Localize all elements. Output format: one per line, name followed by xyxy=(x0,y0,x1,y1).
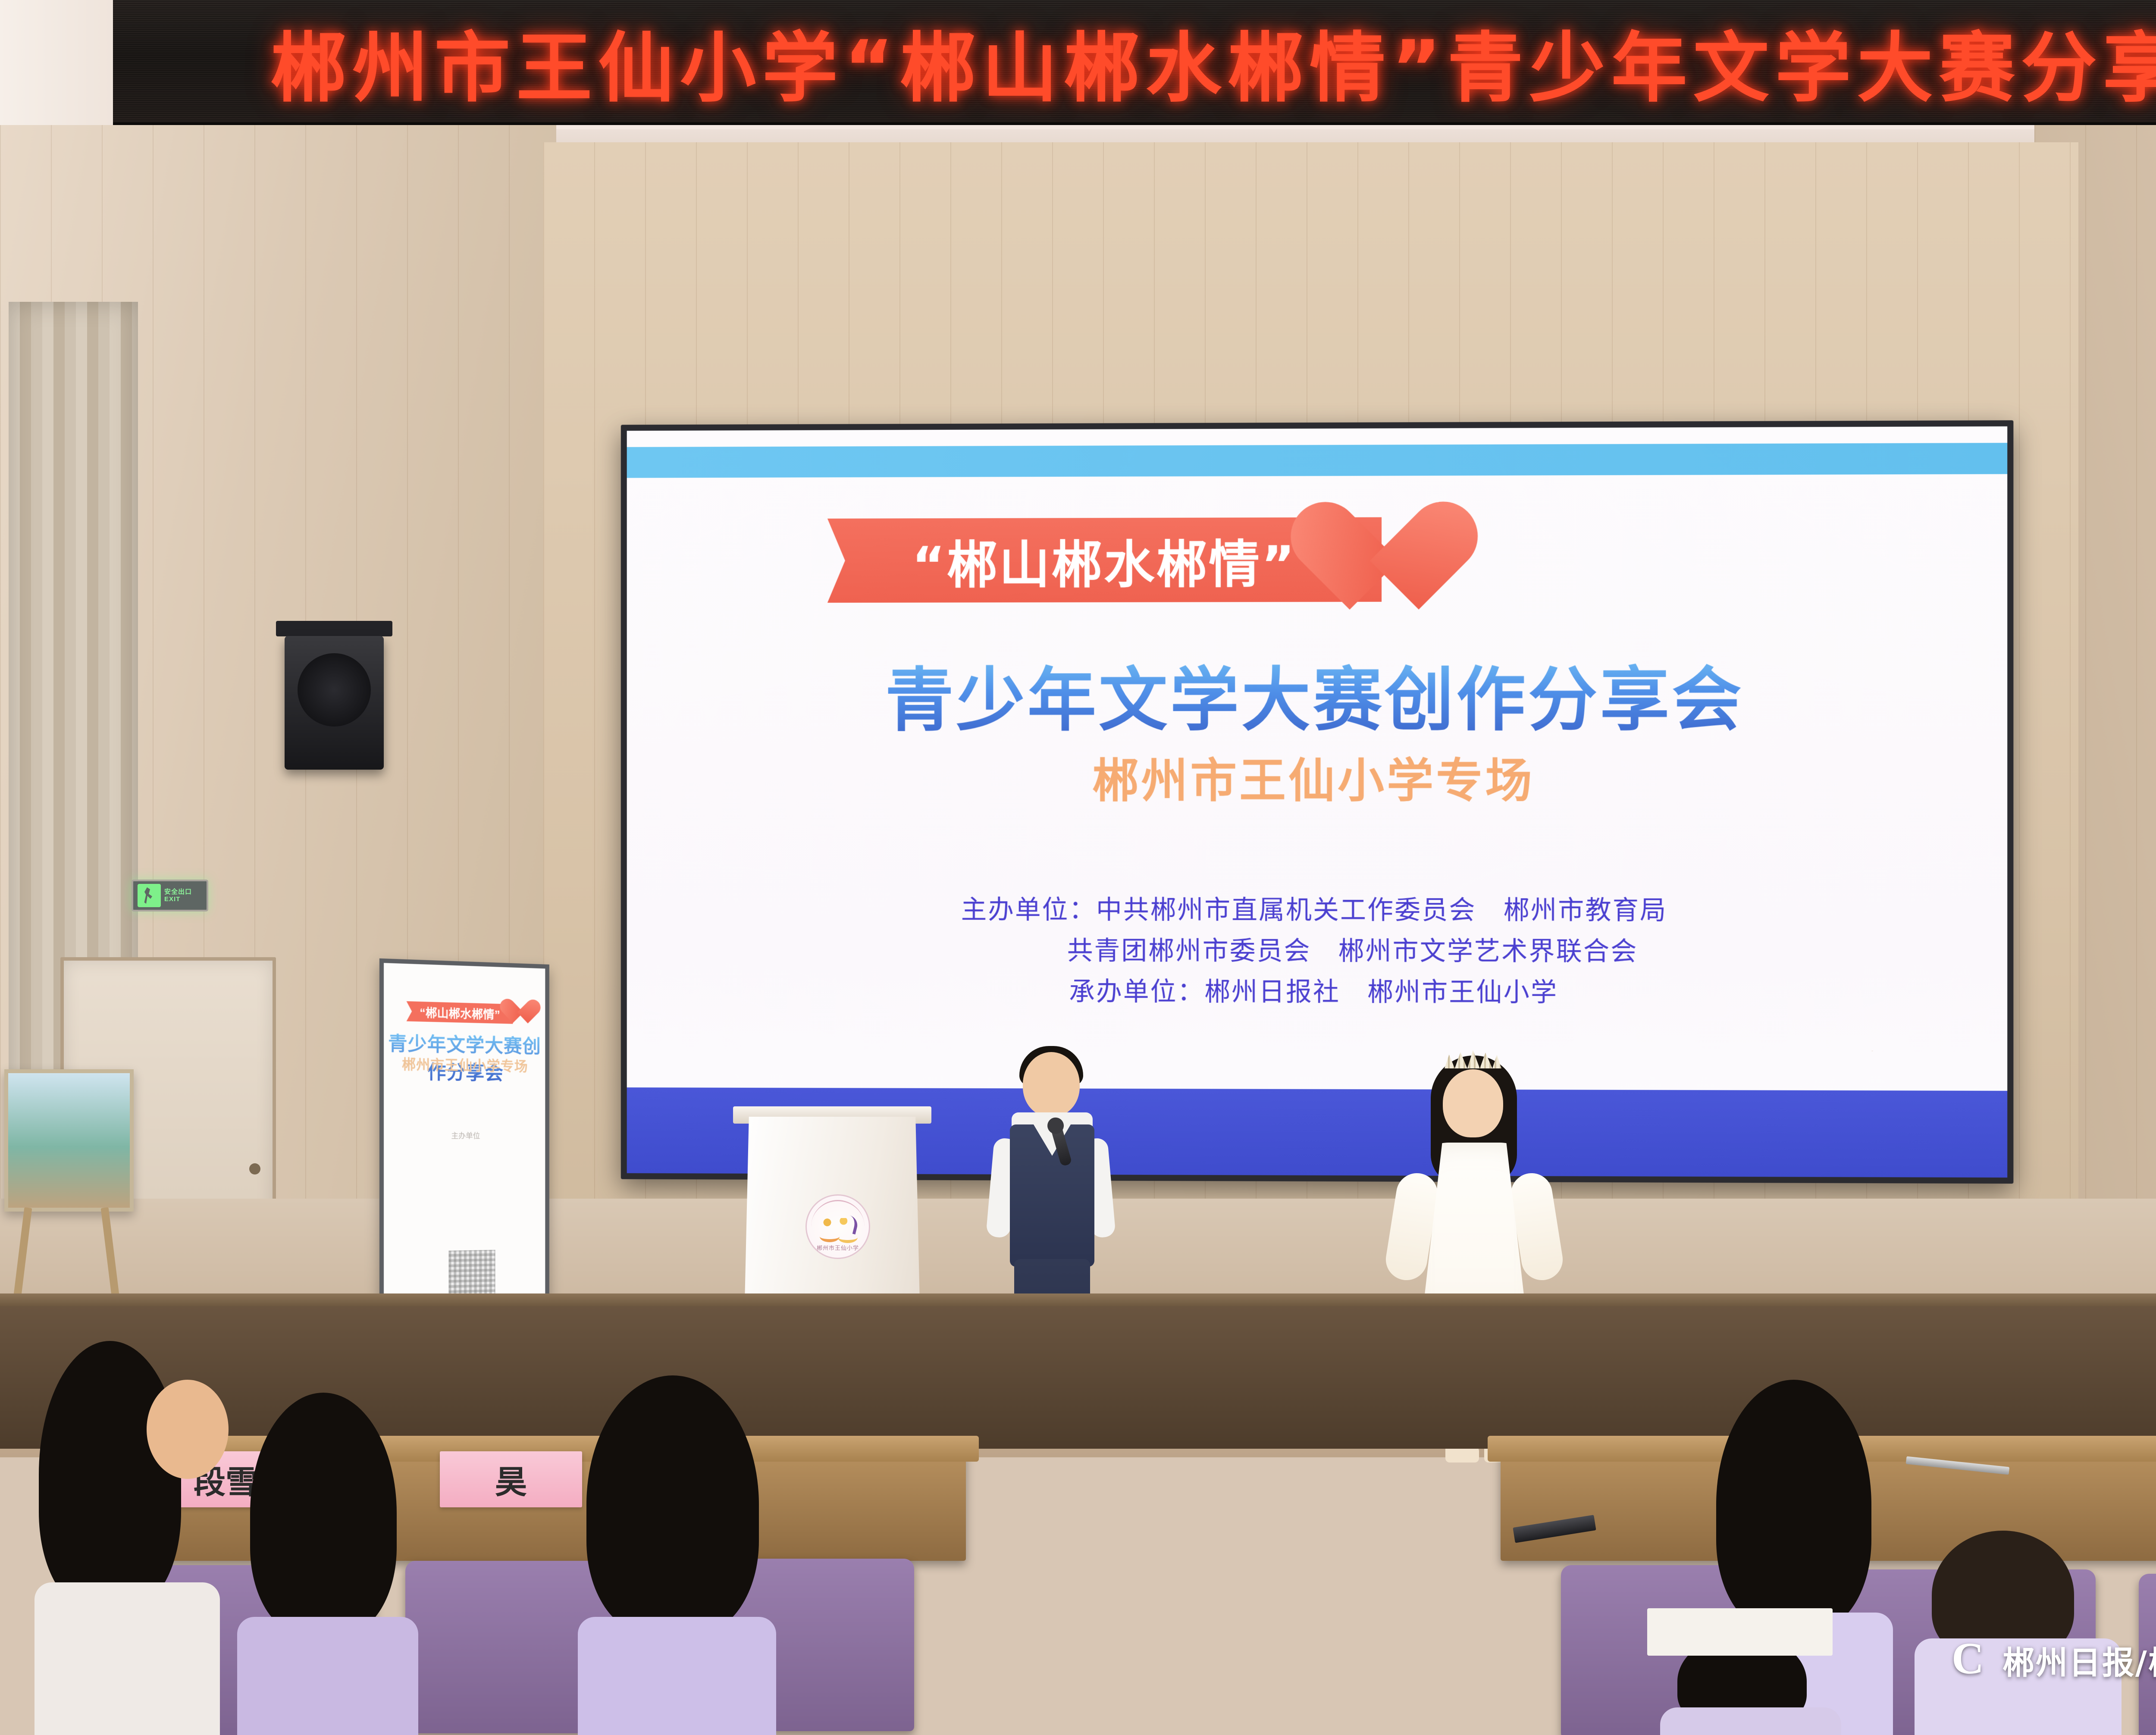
heart-icon xyxy=(506,1000,534,1026)
watermark-text: 郴州日报/郴州发布/今日郴州 xyxy=(2002,1637,2156,1683)
art-easel xyxy=(0,1069,142,1328)
stage-edge xyxy=(0,1293,2156,1306)
speaker-bracket-left xyxy=(276,621,392,636)
hair xyxy=(1716,1380,1871,1630)
slide-top-band xyxy=(627,443,2008,478)
chenzhou-daily-logo-icon xyxy=(1952,1641,1991,1680)
speaker-left xyxy=(285,636,384,770)
school-emblem-icon: 郴州市王仙小学 xyxy=(805,1194,870,1259)
torso xyxy=(34,1582,220,1735)
exit-sign-text: 安全出口 EXIT xyxy=(164,888,192,903)
torso xyxy=(578,1617,776,1735)
running-person-icon xyxy=(138,884,161,907)
banner-left-wall xyxy=(0,0,113,129)
emblem-label: 郴州市王仙小学 xyxy=(807,1243,869,1252)
paper-sheet xyxy=(1647,1608,1833,1656)
organizer-line-1: 主办单位：中共郴州市直属机关工作委员会 郴州市教育局 xyxy=(627,889,2008,932)
poster-body-text: 主办单位 xyxy=(384,1129,545,1143)
led-banner-text: 郴州市王仙小学“郴山郴水郴情”青少年文学大赛分享会 xyxy=(270,6,2156,116)
slide: “郴山郴水郴情” 青少年文学大赛创作分享会 郴州市王仙小学专场 主办单位：中共郴… xyxy=(627,426,2008,1178)
name-placard: 昊 xyxy=(440,1451,582,1507)
watermark: 郴州日报/郴州发布/今日郴州 xyxy=(1952,1637,2156,1683)
torso xyxy=(237,1617,418,1735)
torso xyxy=(1660,1707,1841,1735)
slide-ribbon-text: “郴山郴水郴情” xyxy=(912,523,1297,598)
poster-ribbon: “郴山郴水郴情” xyxy=(407,1001,513,1024)
poster-qr-icon xyxy=(448,1250,495,1298)
hair xyxy=(586,1375,759,1634)
hair xyxy=(250,1393,397,1634)
audience-member xyxy=(1915,1531,2122,1735)
audience-member xyxy=(241,1393,423,1735)
hair xyxy=(39,1341,181,1608)
organizer-line-3: 承办单位：郴州日报社 郴州市王仙小学 xyxy=(627,971,2008,1014)
easel-artwork xyxy=(4,1069,134,1212)
exit-sign-left: 安全出口 EXIT xyxy=(132,880,208,911)
audience-member xyxy=(34,1341,216,1729)
led-banner: 郴州市王仙小学“郴山郴水郴情”青少年文学大赛分享会 xyxy=(113,0,2156,125)
heart-icon xyxy=(1317,506,1446,622)
head xyxy=(147,1380,229,1479)
poster-subtitle: 郴州市王仙小学专场 xyxy=(384,1053,545,1075)
door-knob xyxy=(249,1163,260,1174)
organizer-line-2: 共青团郴州市委员会 郴州市文学艺术界联合会 xyxy=(627,930,2008,973)
head xyxy=(1023,1052,1080,1117)
slide-ribbon-group: “郴山郴水郴情” xyxy=(827,506,1498,615)
audience-area: 段雪毅 昊 第1排10座 xyxy=(0,1306,2156,1735)
slide-organizers: 主办单位：中共郴州市直属机关工作委员会 郴州市教育局 共青团郴州市委员会 郴州市… xyxy=(627,889,2008,1014)
head xyxy=(1443,1069,1503,1137)
slide-title: 青少年文学大赛创作分享会 xyxy=(627,643,2008,745)
projection-screen: “郴山郴水郴情” 青少年文学大赛创作分享会 郴州市王仙小学专场 主办单位：中共郴… xyxy=(621,420,2014,1184)
auditorium-photo: 郴州市王仙小学“郴山郴水郴情”青少年文学大赛分享会 安全出口 EXIT 安全出口… xyxy=(0,0,2156,1735)
slide-subtitle: 郴州市王仙小学专场 xyxy=(627,743,2008,811)
audience-member xyxy=(578,1375,776,1735)
